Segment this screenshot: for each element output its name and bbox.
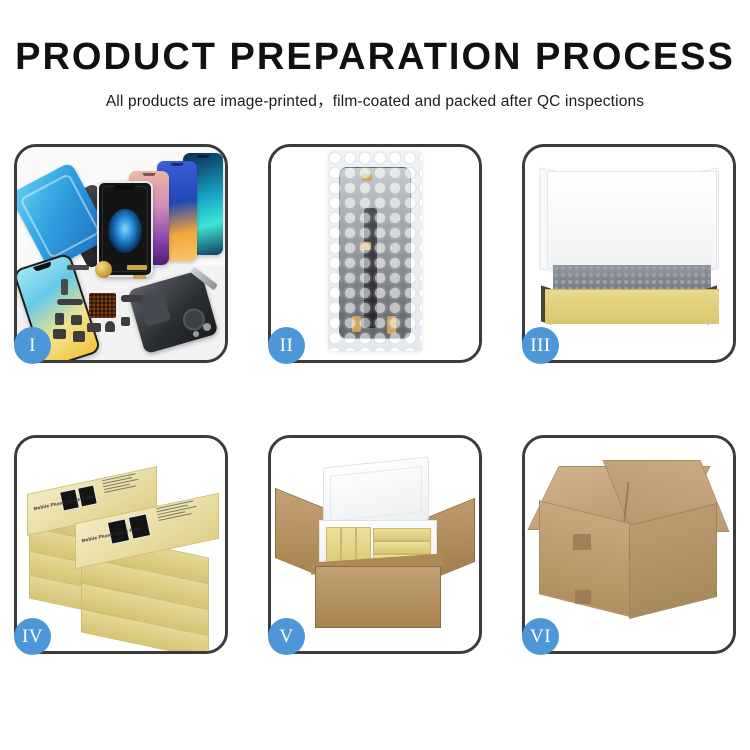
step-badge-4: IV <box>14 618 51 655</box>
step-1-image <box>17 147 225 360</box>
step-4-image: Mobile Phone Spare Parts Mobile Phone Sp… <box>17 438 225 651</box>
flex-part-icon <box>55 313 64 325</box>
camera-module-icon <box>121 317 130 326</box>
process-step-1[interactable]: I <box>14 144 228 363</box>
flex-part-3-icon <box>87 323 101 332</box>
box-stack-icon: Mobile Phone Spare Parts Mobile Phone Sp… <box>23 452 223 642</box>
grey-foam-layer-icon <box>553 265 711 291</box>
process-step-5[interactable]: V <box>268 435 482 654</box>
gold-tab-4-icon <box>387 316 396 334</box>
carton-tape-2-icon <box>575 590 591 604</box>
step-badge-1: I <box>14 327 51 364</box>
step-3-image <box>525 147 733 360</box>
gold-tab-3-icon <box>352 316 361 332</box>
step-badge-3: III <box>522 327 559 364</box>
gold-tab-icon <box>362 174 372 181</box>
process-grid: I II <box>14 144 736 654</box>
packed-box-icon <box>373 541 431 554</box>
step-2-image <box>271 147 479 360</box>
button-part-icon <box>73 331 85 342</box>
process-step-3[interactable]: III <box>522 144 736 363</box>
kraft-box-front-icon <box>545 289 719 324</box>
step-badge-5: V <box>268 618 305 655</box>
gold-coil-icon <box>95 261 112 278</box>
screw-2-icon <box>193 331 199 337</box>
step-badge-6: VI <box>522 618 559 655</box>
page-title: PRODUCT PREPARATION PROCESS <box>0 38 750 78</box>
flex-cable-icon <box>57 299 83 305</box>
process-step-4[interactable]: Mobile Phone Spare Parts Mobile Phone Sp… <box>14 435 228 654</box>
step-6-image <box>525 438 733 651</box>
process-step-6[interactable]: VI <box>522 435 736 654</box>
packed-box-icon <box>373 528 431 541</box>
page-subtitle: All products are image-printed，film-coat… <box>0 89 750 111</box>
gold-tab-2-icon <box>360 242 371 250</box>
white-foam-pad-icon <box>551 185 711 269</box>
step-5-image <box>271 438 479 651</box>
gold-flex-2-icon <box>133 275 146 279</box>
screw-icon <box>203 323 211 331</box>
sim-tray-icon <box>53 329 66 339</box>
step-badge-2: II <box>268 327 305 364</box>
display-flex-cable-icon <box>364 208 377 328</box>
infographic-page: PRODUCT PREPARATION PROCESS All products… <box>0 0 750 750</box>
flex-part-2-icon <box>71 315 82 325</box>
carton-tape-icon <box>573 534 591 550</box>
header: PRODUCT PREPARATION PROCESS All products… <box>0 0 750 111</box>
carton-front-icon <box>315 566 441 628</box>
speaker-icon <box>105 321 115 332</box>
wrapped-display-part-icon <box>339 167 411 339</box>
bubble-wrap-icon <box>328 151 422 351</box>
component-small-icon <box>61 279 68 295</box>
flex-cable-2-icon <box>121 295 143 302</box>
connector-grid-icon <box>89 293 116 318</box>
process-step-2[interactable]: II <box>268 144 482 363</box>
component-bar-icon <box>67 265 89 270</box>
gold-flex-icon <box>127 265 147 270</box>
